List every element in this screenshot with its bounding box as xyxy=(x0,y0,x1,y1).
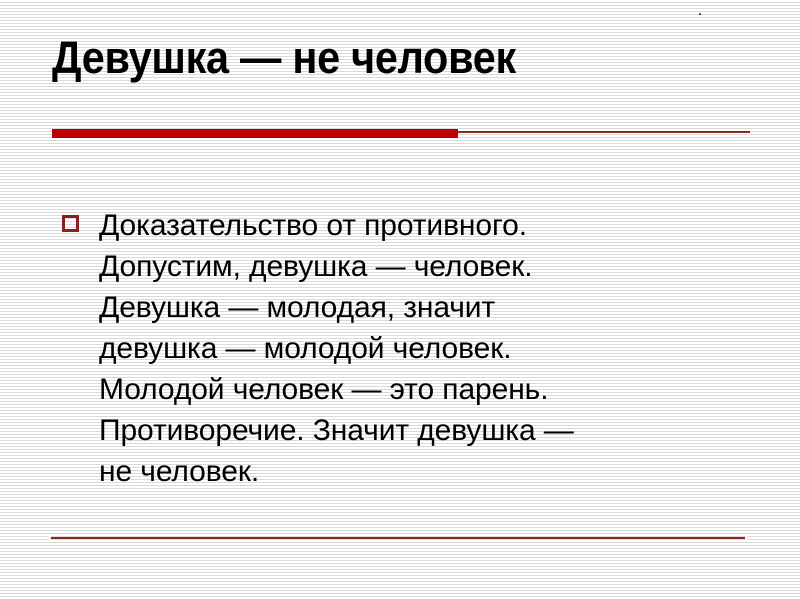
body-bullet-block: Доказательство от противного. Допустим, … xyxy=(62,205,702,492)
body-line: не человек. xyxy=(99,451,702,492)
body-line: Девушка — молодая, значит xyxy=(99,287,702,328)
divider-thick-bar xyxy=(52,129,458,138)
square-outline-icon xyxy=(62,215,79,232)
body-line: Противоречие. Значит девушка — xyxy=(99,410,702,451)
body-line: Допустим, девушка — человек. xyxy=(99,246,702,287)
body-paragraph: Доказательство от противного. Допустим, … xyxy=(99,205,702,492)
divider-handle-dot xyxy=(699,13,701,15)
bottom-rule-right-cap xyxy=(745,536,748,540)
body-line: Молодой человек — это парень. xyxy=(99,369,702,410)
title-divider xyxy=(52,128,750,138)
body-line: девушка — молодой человек. xyxy=(99,328,702,369)
body-line: Доказательство от противного. xyxy=(99,205,702,246)
slide-canvas: Девушка — не человек Доказательство от п… xyxy=(0,0,800,599)
bottom-rule xyxy=(51,537,745,539)
page-title: Девушка — не человек xyxy=(52,30,696,86)
